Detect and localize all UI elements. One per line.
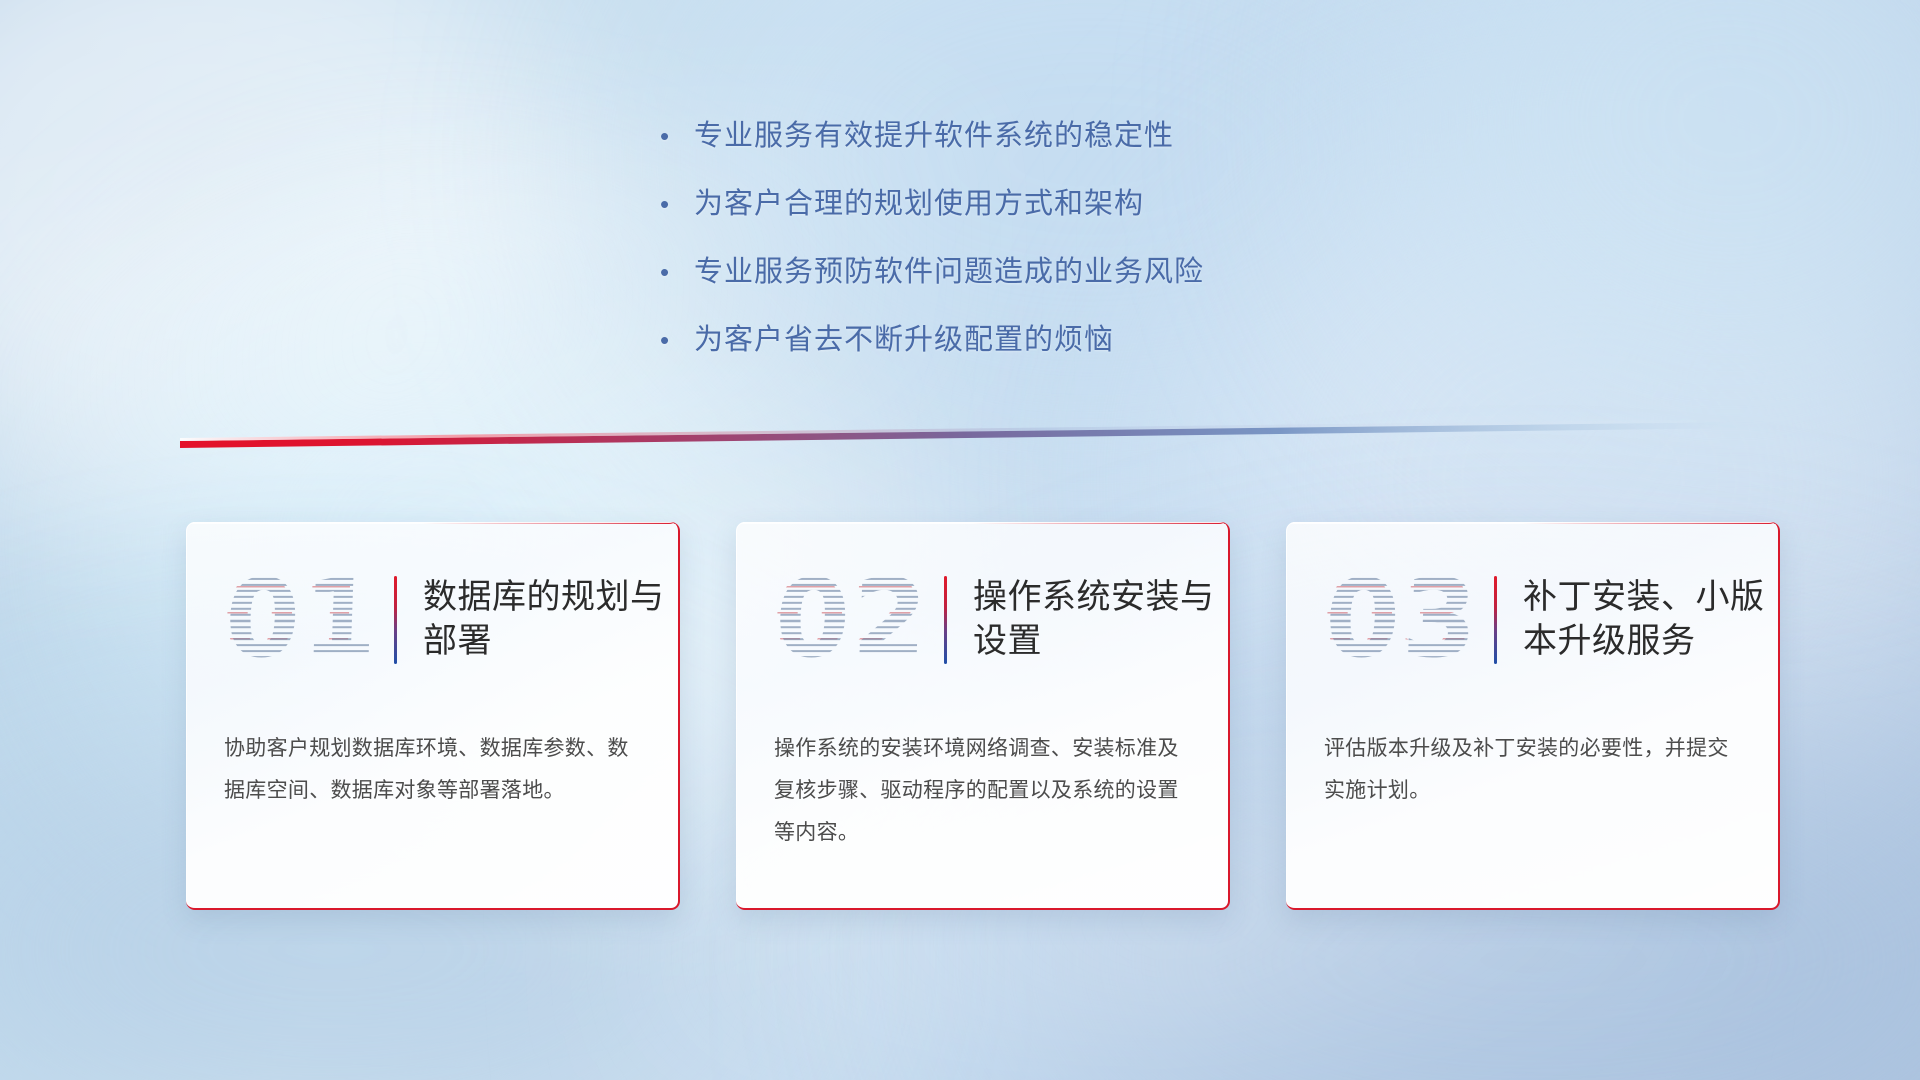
card-number-text: 02 bbox=[773, 566, 931, 674]
card-divider-bar bbox=[1494, 576, 1497, 664]
card-header: 01 01 数据库的规划与部署 bbox=[186, 522, 678, 718]
card-header: 03 03 补丁安装、小版本升级服务 bbox=[1286, 522, 1778, 718]
card-title: 补丁安装、小版本升级服务 bbox=[1523, 576, 1769, 663]
card-body-text: 协助客户规划数据库环境、数据库参数、数据库空间、数据库对象等部署落地。 bbox=[224, 728, 644, 812]
feature-card[interactable]: 03 03 补丁安装、小版本升级服务 评估版本升级及补丁安装的必要性，并提交实施… bbox=[1286, 522, 1780, 910]
section-divider bbox=[180, 418, 1750, 452]
feature-card[interactable]: 01 01 数据库的规划与部署 协助客户规划数据库环境、数据库参数、数据库空间、… bbox=[186, 522, 680, 910]
card-number-text: 03 bbox=[1323, 566, 1481, 674]
bullet-dot-icon: • bbox=[660, 259, 694, 285]
card-number-text: 01 bbox=[223, 566, 381, 674]
card-number-watermark: 02 02 bbox=[764, 560, 940, 680]
divider-shape-icon bbox=[180, 418, 1750, 452]
list-item: • 为客户省去不断升级配置的烦恼 bbox=[660, 316, 1560, 358]
bullet-dot-icon: • bbox=[660, 123, 694, 149]
card-title: 数据库的规划与部署 bbox=[423, 576, 669, 663]
card-number-watermark: 03 03 bbox=[1314, 560, 1490, 680]
card-divider-bar bbox=[944, 576, 947, 664]
list-item: • 专业服务有效提升软件系统的稳定性 bbox=[660, 112, 1560, 154]
list-item: • 为客户合理的规划使用方式和架构 bbox=[660, 180, 1560, 222]
feature-card[interactable]: 02 02 操作系统安装与设置 操作系统的安装环境网络调查、安装标准及复核步骤、… bbox=[736, 522, 1230, 910]
feature-card-row: 01 01 数据库的规划与部署 协助客户规划数据库环境、数据库参数、数据库空间、… bbox=[186, 522, 1780, 910]
card-body-text: 操作系统的安装环境网络调查、安装标准及复核步骤、驱动程序的配置以及系统的设置等内… bbox=[774, 728, 1194, 854]
bullet-dot-icon: • bbox=[660, 191, 694, 217]
list-item: • 专业服务预防软件问题造成的业务风险 bbox=[660, 248, 1560, 290]
bullet-dot-icon: • bbox=[660, 327, 694, 353]
card-title: 操作系统安装与设置 bbox=[973, 576, 1219, 663]
card-number-watermark: 01 01 bbox=[214, 560, 390, 680]
bullet-list: • 专业服务有效提升软件系统的稳定性 • 为客户合理的规划使用方式和架构 • 专… bbox=[660, 112, 1560, 384]
bullet-text: 专业服务预防软件问题造成的业务风险 bbox=[694, 248, 1204, 290]
bullet-text: 为客户合理的规划使用方式和架构 bbox=[694, 180, 1144, 222]
card-divider-bar bbox=[394, 576, 397, 664]
bullet-text: 为客户省去不断升级配置的烦恼 bbox=[694, 316, 1114, 358]
card-header: 02 02 操作系统安装与设置 bbox=[736, 522, 1228, 718]
card-body-text: 评估版本升级及补丁安装的必要性，并提交实施计划。 bbox=[1324, 728, 1744, 812]
bullet-text: 专业服务有效提升软件系统的稳定性 bbox=[694, 112, 1174, 154]
